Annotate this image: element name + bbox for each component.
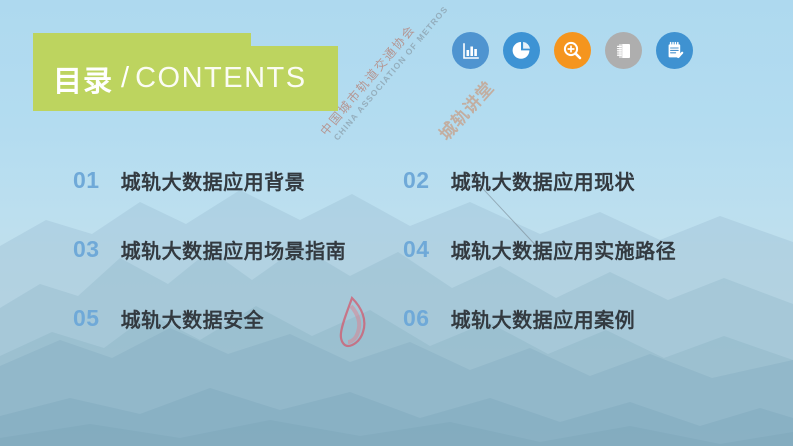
- menu-number: 04: [403, 236, 430, 263]
- menu-item-01[interactable]: 01 城轨大数据应用背景: [0, 146, 335, 215]
- banner-top-step: [33, 33, 251, 46]
- menu-number: 05: [73, 305, 100, 332]
- watermark-stamp: 城轨讲堂: [432, 74, 499, 144]
- menu-item-06[interactable]: 06 城轨大数据应用案例: [335, 284, 793, 353]
- icon-row: [452, 32, 693, 69]
- menu-label: 城轨大数据安全: [121, 304, 265, 333]
- banner-separator: /: [121, 62, 129, 95]
- menu-label: 城轨大数据应用案例: [451, 304, 636, 333]
- pie-chart-icon[interactable]: [503, 32, 540, 69]
- menu-item-02[interactable]: 02 城轨大数据应用现状: [335, 146, 793, 215]
- presentation-slide: 中国城市轨道交通协会 CHINA ASSOCIATION OF METROS 城…: [0, 0, 793, 446]
- notepad-check-icon[interactable]: [656, 32, 693, 69]
- menu-item-03[interactable]: 03 城轨大数据应用场景指南: [0, 215, 335, 284]
- menu-number: 03: [73, 236, 100, 263]
- menu-number: 01: [73, 167, 100, 194]
- menu-item-04[interactable]: 04 城轨大数据应用实施路径: [335, 215, 793, 284]
- watermark-en-text: CHINA ASSOCIATION OF METROS: [332, 4, 450, 142]
- menu-label: 城轨大数据应用实施路径: [451, 235, 677, 264]
- menu-label: 城轨大数据应用场景指南: [121, 235, 347, 264]
- menu-item-05[interactable]: 05 城轨大数据安全: [0, 284, 335, 353]
- menu-number: 02: [403, 167, 430, 194]
- bar-chart-icon[interactable]: [452, 32, 489, 69]
- menu-label: 城轨大数据应用背景: [121, 166, 306, 195]
- menu-label: 城轨大数据应用现状: [451, 166, 636, 195]
- contents-menu: 01 城轨大数据应用背景 02 城轨大数据应用现状 03 城轨大数据应用场景指南…: [0, 146, 793, 353]
- zoom-in-icon[interactable]: [554, 32, 591, 69]
- notebook-icon[interactable]: [605, 32, 642, 69]
- banner-title-cn: 目录: [53, 58, 113, 100]
- menu-number: 06: [403, 305, 430, 332]
- mountain-layer-base: [0, 404, 793, 446]
- banner-title-en: CONTENTS: [135, 62, 307, 95]
